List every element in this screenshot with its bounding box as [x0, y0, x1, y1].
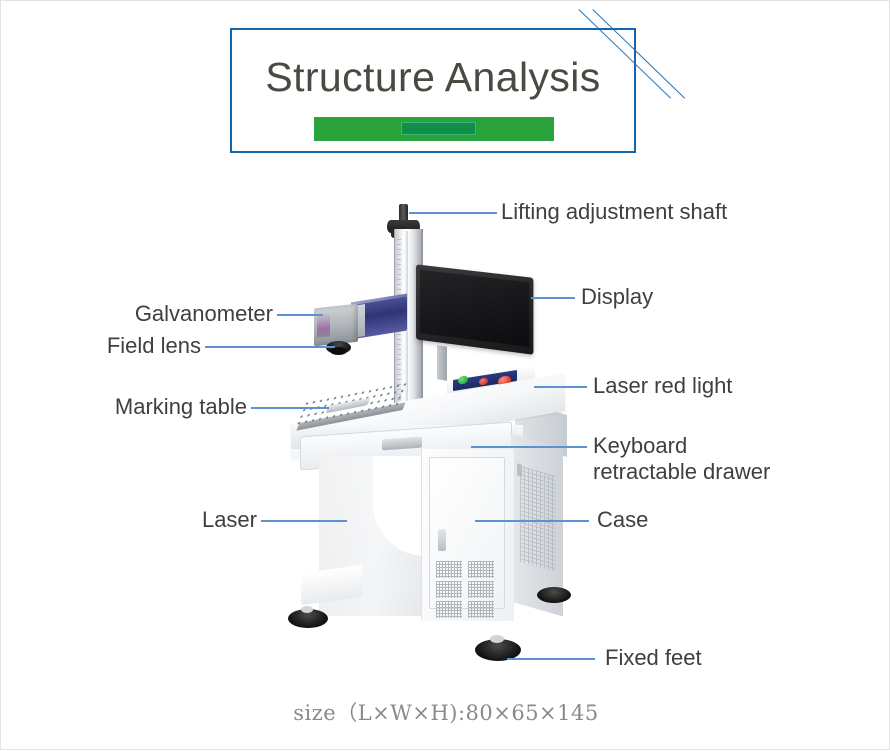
- case-vent-grille: [436, 601, 462, 618]
- leader-line-laser-red-light: [534, 386, 587, 388]
- leader-line-galvanometer: [277, 314, 323, 316]
- case-side-vent: [520, 466, 556, 572]
- leader-line-keyboard-retractable-drawer: [471, 446, 587, 448]
- diagram-canvas: Structure Analysis: [1, 1, 889, 749]
- galvanometer-face: [317, 314, 330, 337]
- label-display: Display: [581, 284, 653, 310]
- label-case: Case: [597, 507, 648, 533]
- leader-line-display: [531, 297, 575, 299]
- leader-line-laser: [261, 520, 347, 522]
- label-keyboard-retractable-drawer: Keyboard retractable drawer: [593, 433, 770, 485]
- case-vent-grille: [436, 581, 462, 598]
- fixed-foot-cap: [490, 635, 504, 643]
- field-lens-glass: [330, 347, 347, 355]
- case-side-latch: [517, 463, 522, 476]
- case-door-handle: [438, 529, 446, 551]
- leader-line-field-lens: [205, 346, 335, 348]
- case-vent-grille: [468, 581, 494, 598]
- leader-line-fixed-feet: [507, 658, 595, 660]
- fixed-foot-cap: [301, 606, 313, 613]
- leader-line-marking-table: [251, 407, 329, 409]
- label-fixed-feet: Fixed feet: [605, 645, 702, 671]
- fixed-foot: [537, 587, 571, 603]
- label-galvanometer: Galvanometer: [41, 301, 273, 327]
- machine-illustration: [1, 1, 890, 751]
- label-laser-red-light: Laser red light: [593, 373, 732, 399]
- case-vent-grille: [436, 561, 462, 578]
- label-laser: Laser: [61, 507, 257, 533]
- leader-line-lifting-adjustment-shaft: [409, 212, 497, 214]
- label-field-lens: Field lens: [41, 333, 201, 359]
- display-arm: [437, 345, 447, 381]
- case-vent-grille: [468, 561, 494, 578]
- size-caption: size（L×W×H):80×65×145: [1, 697, 890, 727]
- case-vent-grille: [468, 601, 494, 618]
- label-marking-table: Marking table: [41, 394, 247, 420]
- label-lifting-adjustment-shaft: Lifting adjustment shaft: [501, 199, 727, 225]
- leader-line-case: [475, 520, 589, 522]
